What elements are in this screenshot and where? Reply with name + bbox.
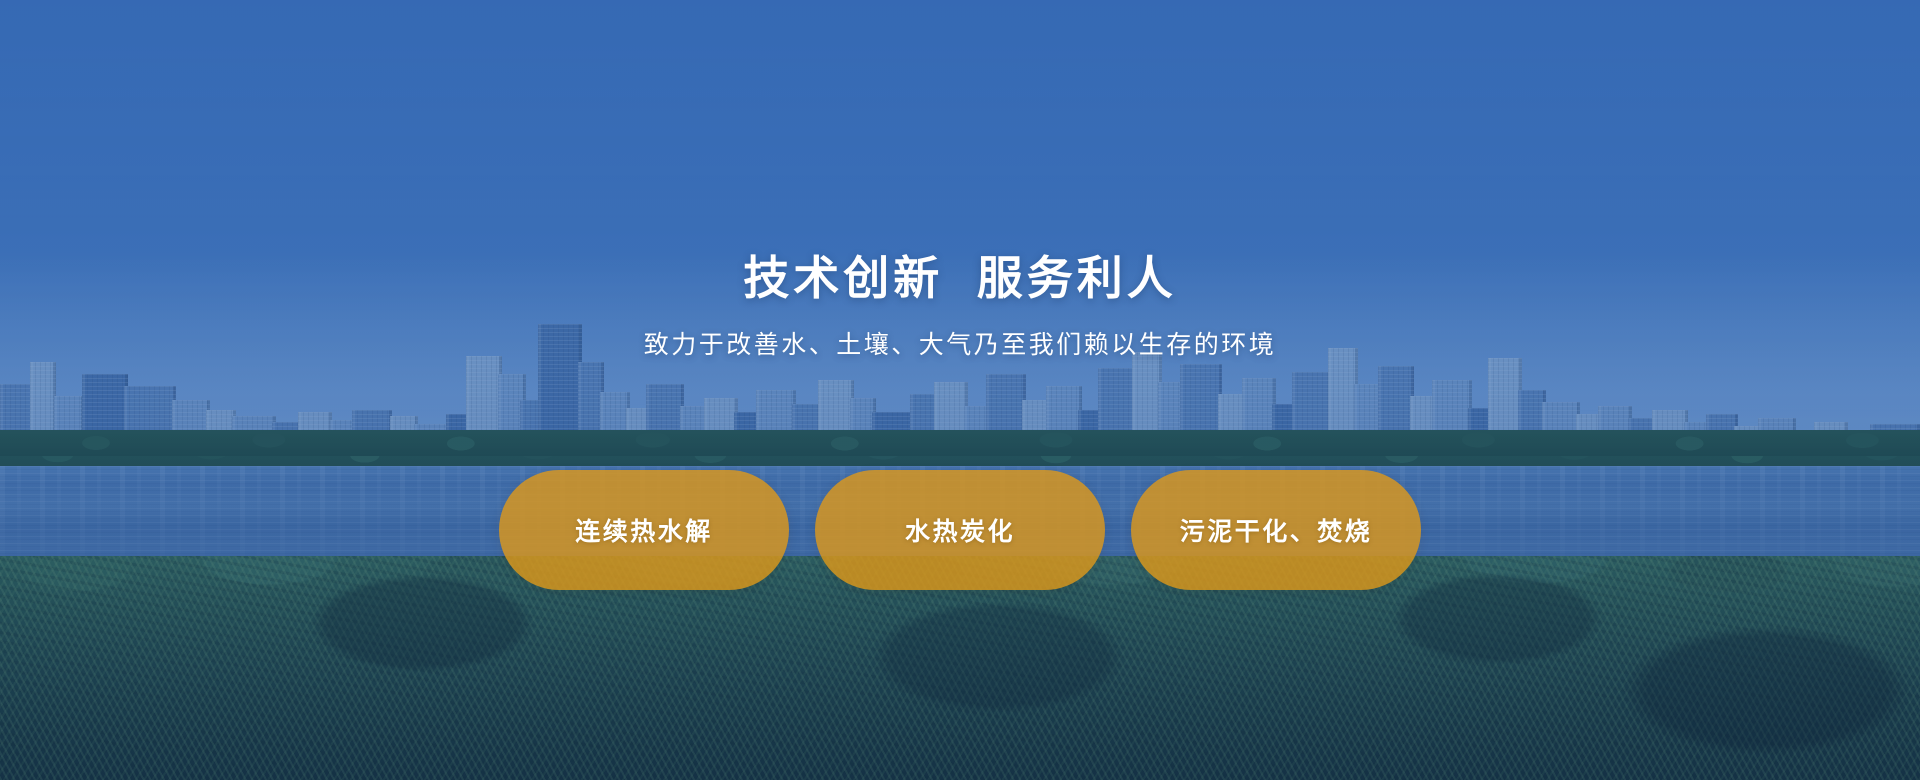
service-pill-hydrothermal-carbonization[interactable]: 水热炭化 — [815, 470, 1105, 590]
service-pill-sludge-drying-incineration[interactable]: 污泥干化、焚烧 — [1131, 470, 1421, 590]
hero-copy: 技术创新 服务利人 致力于改善水、土壤、大气乃至我们赖以生存的环境 — [0, 250, 1920, 363]
hero-banner: 技术创新 服务利人 致力于改善水、土壤、大气乃至我们赖以生存的环境 连续热水解 … — [0, 0, 1920, 780]
blue-wash-overlay — [0, 0, 1920, 780]
service-pill-group: 连续热水解 水热炭化 污泥干化、焚烧 — [0, 470, 1920, 590]
pill-label: 污泥干化、焚烧 — [1180, 512, 1373, 548]
pill-label: 水热炭化 — [905, 512, 1015, 548]
pill-label: 连续热水解 — [575, 512, 713, 548]
page-subtitle: 致力于改善水、土壤、大气乃至我们赖以生存的环境 — [0, 328, 1920, 363]
page-title: 技术创新 服务利人 — [0, 250, 1920, 306]
service-pill-continuous-thermal-hydrolysis[interactable]: 连续热水解 — [499, 470, 789, 590]
